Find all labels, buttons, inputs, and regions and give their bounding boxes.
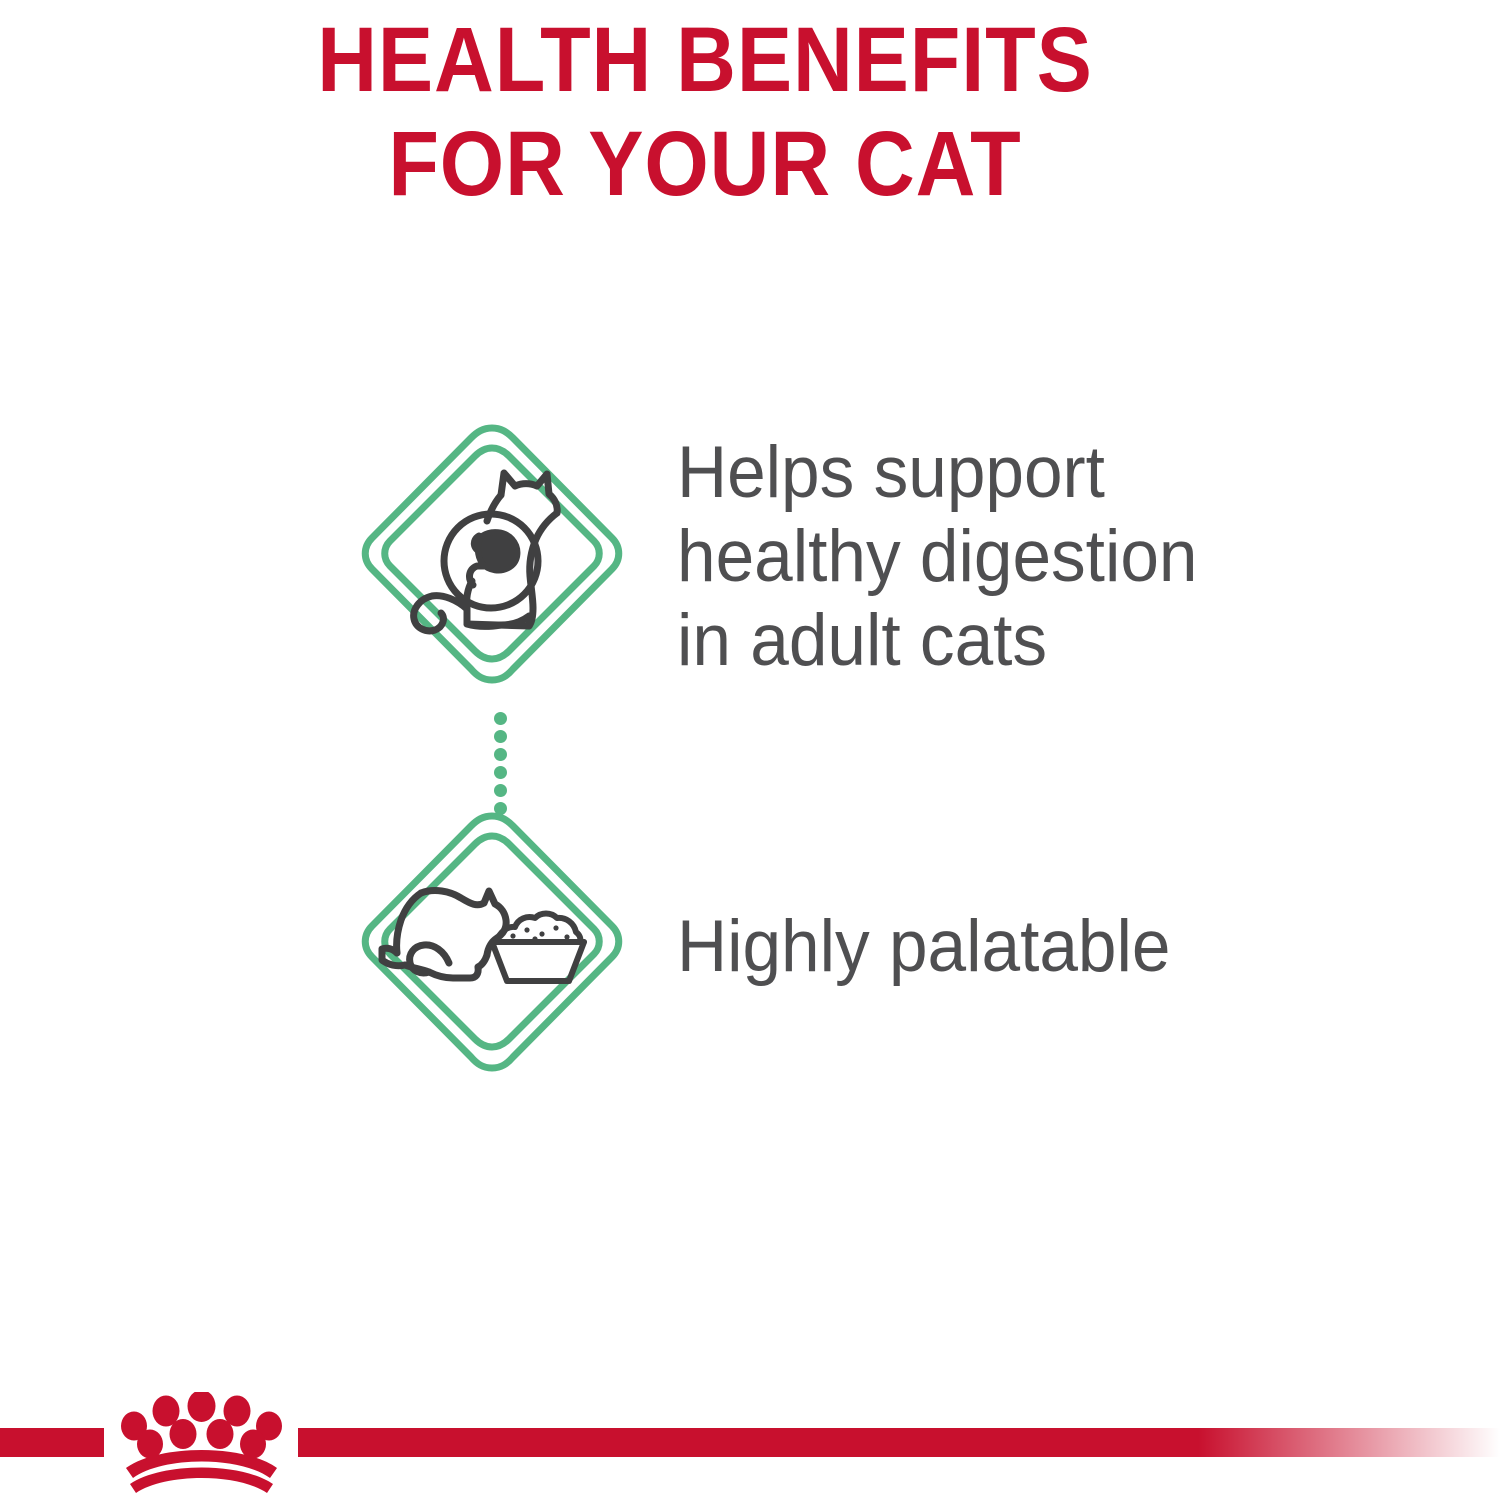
- page-title: HEALTH BENEFITS FOR YOUR CAT: [0, 8, 1410, 216]
- connector-dot: [494, 748, 507, 761]
- brand-footer-bar: [0, 1428, 1500, 1500]
- connector-dot: [494, 784, 507, 797]
- benefit-label-palatable: Highly palatable: [677, 905, 1170, 989]
- benefit-label-digestion: Helps support healthy digestion in adult…: [677, 431, 1198, 683]
- page-title-line-1: HEALTH BENEFITS: [71, 8, 1340, 112]
- brand-bar-left: [0, 1428, 104, 1457]
- cat-eating-bowl-icon: [355, 808, 630, 1086]
- connector-dot: [494, 712, 507, 725]
- connector-dot: [494, 766, 507, 779]
- dotted-connector: [488, 712, 512, 804]
- royal-canin-crown-logo: [104, 1392, 299, 1500]
- connector-dot: [494, 730, 507, 743]
- brand-bar-right: [298, 1428, 1500, 1457]
- page-title-line-2: FOR YOUR CAT: [71, 112, 1340, 216]
- health-benefits-panel: HEALTH BENEFITS FOR YOUR CAT: [0, 0, 1500, 1500]
- benefit-item-digestion: Helps support healthy digestion in adult…: [355, 420, 1225, 698]
- cat-digestion-icon: [355, 420, 630, 698]
- benefit-item-palatable: Highly palatable: [355, 808, 1196, 1086]
